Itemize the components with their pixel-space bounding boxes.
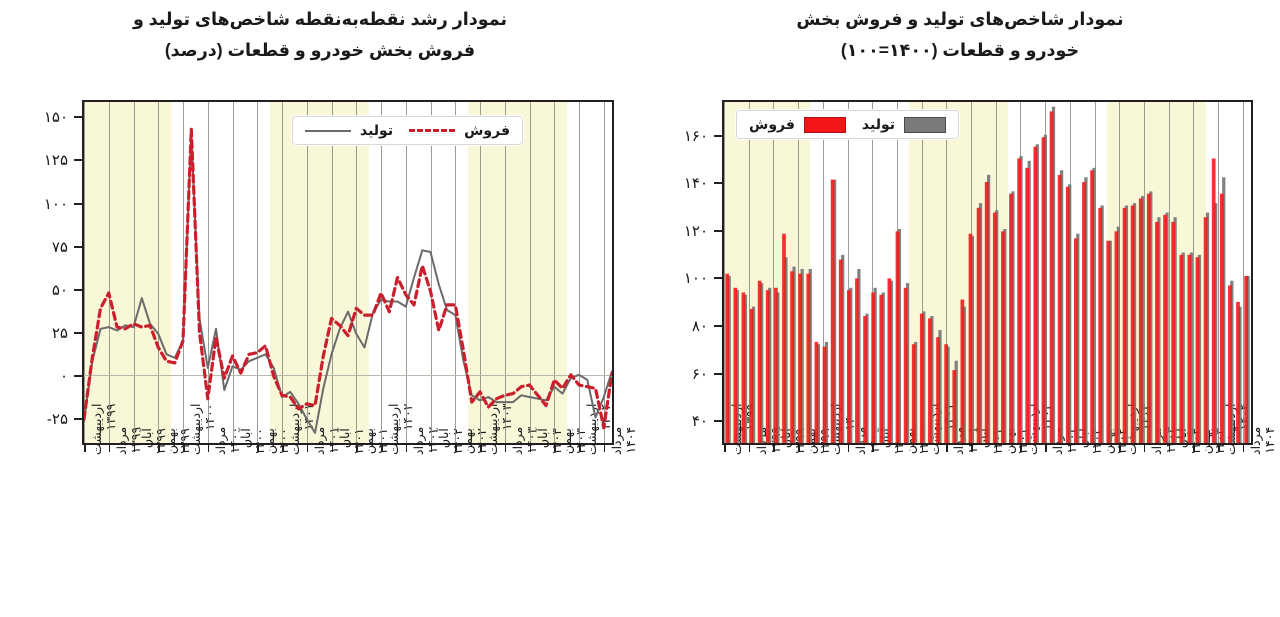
bar-sales bbox=[993, 213, 997, 443]
x-tick-mark bbox=[381, 445, 383, 452]
x-tick-mark bbox=[971, 445, 973, 452]
x-tick-mark bbox=[505, 445, 507, 452]
bar-sales bbox=[1074, 238, 1078, 443]
y-tick-label: ۱۲۵ bbox=[44, 151, 68, 169]
y-tick-mark bbox=[714, 420, 722, 422]
bar-sales bbox=[879, 295, 883, 443]
bar-sales bbox=[1090, 170, 1094, 443]
bar-sales bbox=[1042, 137, 1046, 443]
bar-sales bbox=[969, 234, 973, 443]
left-legend-item-production: تولید bbox=[305, 122, 393, 139]
x-tick-mark bbox=[946, 445, 948, 452]
panel-growth-line-chart: نمودار رشد نقطه‌به‌نقطه شاخص‌های تولید و… bbox=[0, 0, 640, 617]
x-tick-mark bbox=[848, 445, 850, 452]
bar-sales bbox=[798, 274, 802, 443]
x-tick-mark bbox=[798, 445, 800, 452]
bar-sales bbox=[1066, 187, 1070, 443]
y-tick-mark bbox=[74, 289, 82, 291]
y-tick-mark bbox=[74, 159, 82, 161]
x-tick-mark bbox=[1243, 445, 1245, 452]
dashed-line-icon bbox=[409, 129, 455, 132]
line-series-sales bbox=[84, 129, 612, 427]
bar-sales bbox=[1139, 198, 1143, 443]
y-tick-label: ۱۶۰ bbox=[684, 127, 708, 145]
y-tick-mark bbox=[714, 277, 722, 279]
x-tick-mark bbox=[872, 445, 874, 452]
x-tick-mark bbox=[84, 445, 86, 452]
bar-sales bbox=[985, 182, 989, 443]
bar-sales bbox=[1228, 285, 1232, 443]
right-legend-item-sales: فروش bbox=[749, 116, 846, 133]
bar-sales bbox=[766, 290, 770, 443]
x-tick-mark bbox=[1119, 445, 1121, 452]
right-legend-item-production: تولید bbox=[862, 116, 946, 133]
bar-sales bbox=[863, 316, 867, 443]
y-tick-label: ۷۵ bbox=[52, 238, 68, 256]
x-tick-mark bbox=[1095, 445, 1097, 452]
x-tick-mark bbox=[406, 445, 408, 452]
x-tick-mark bbox=[208, 445, 210, 452]
bar-sales bbox=[831, 180, 835, 443]
x-tick-mark bbox=[554, 445, 556, 452]
x-tick-mark bbox=[109, 445, 111, 452]
bar-sales bbox=[782, 234, 786, 443]
bar-sales bbox=[725, 274, 729, 443]
bar-sales bbox=[936, 337, 940, 443]
y-tick-mark bbox=[714, 135, 722, 137]
bar-sales bbox=[1155, 222, 1159, 443]
solid-line-icon bbox=[305, 130, 351, 132]
x-tick-mark bbox=[773, 445, 775, 452]
right-legend-production-label: تولید bbox=[862, 116, 895, 133]
bar-sales bbox=[920, 314, 924, 443]
left-legend-item-sales: فروش bbox=[409, 122, 510, 139]
left-series-lines bbox=[84, 102, 612, 443]
y-tick-mark bbox=[74, 246, 82, 248]
x-tick-mark bbox=[134, 445, 136, 452]
bar-sales bbox=[1098, 208, 1102, 443]
x-tick-mark bbox=[749, 445, 751, 452]
y-tick-mark bbox=[714, 230, 722, 232]
y-tick-mark bbox=[74, 203, 82, 205]
bar-sales bbox=[733, 288, 737, 443]
x-tick-mark bbox=[604, 445, 606, 452]
bar-sales bbox=[871, 292, 875, 443]
bar-sales bbox=[1163, 215, 1167, 443]
left-title-line1: نمودار رشد نقطه‌به‌نقطه شاخص‌های تولید و bbox=[0, 4, 640, 35]
y-tick-label: ۶۰ bbox=[692, 365, 708, 383]
x-tick-mark bbox=[158, 445, 160, 452]
right-title-line1: نمودار شاخص‌های تولید و فروش بخش bbox=[640, 4, 1280, 35]
bar-sales bbox=[1196, 257, 1200, 443]
bar-sales bbox=[1236, 302, 1240, 443]
y-tick-mark bbox=[714, 373, 722, 375]
bar-sales bbox=[847, 290, 851, 443]
left-legend-sales-label: فروش bbox=[464, 122, 510, 139]
bar-sales bbox=[977, 208, 981, 443]
bar-sales bbox=[758, 281, 762, 443]
bar-sales bbox=[1082, 182, 1086, 443]
x-tick-mark bbox=[579, 445, 581, 452]
bar-sales bbox=[928, 318, 932, 443]
bar-sales bbox=[839, 260, 843, 443]
y-tick-label: ۰ bbox=[60, 367, 68, 385]
y-tick-mark bbox=[714, 182, 722, 184]
y-tick-label: -۲۵ bbox=[47, 410, 68, 428]
right-y-axis: ۴۰۶۰۸۰۱۰۰۱۲۰۱۴۰۱۶۰ bbox=[640, 100, 722, 445]
bar-sales bbox=[912, 344, 916, 443]
red-square-icon bbox=[804, 117, 846, 133]
y-tick-mark bbox=[74, 332, 82, 334]
x-tick-mark bbox=[724, 445, 726, 452]
y-tick-label: ۱۲۰ bbox=[684, 222, 708, 240]
x-tick-mark bbox=[922, 445, 924, 452]
x-tick-mark bbox=[1144, 445, 1146, 452]
right-chart-title: نمودار شاخص‌های تولید و فروش بخش خودرو و… bbox=[640, 4, 1280, 65]
x-tick-mark bbox=[1193, 445, 1195, 452]
bar-sales bbox=[904, 288, 908, 443]
x-tick-label: مرداد۱۴۰۴ bbox=[610, 427, 639, 455]
bar-sales bbox=[1050, 111, 1054, 443]
bar-sales bbox=[1188, 255, 1192, 443]
y-tick-label: ۱۴۰ bbox=[684, 174, 708, 192]
bar-sales bbox=[944, 344, 948, 443]
bar-sales bbox=[1244, 276, 1248, 443]
x-tick-mark bbox=[332, 445, 334, 452]
bar-sales bbox=[896, 231, 900, 443]
bar-sales bbox=[750, 309, 754, 443]
x-tick-mark bbox=[1070, 445, 1072, 452]
x-tick-mark bbox=[431, 445, 433, 452]
y-tick-mark bbox=[74, 116, 82, 118]
x-tick-mark bbox=[455, 445, 457, 452]
bar-sales bbox=[1001, 231, 1005, 443]
x-tick-mark bbox=[307, 445, 309, 452]
x-tick-mark bbox=[183, 445, 185, 452]
bar-sales bbox=[888, 278, 892, 443]
right-legend: تولید فروش bbox=[736, 110, 959, 139]
bar-sales bbox=[1058, 175, 1062, 443]
bar-sales bbox=[1009, 194, 1013, 443]
bar-sales bbox=[1106, 241, 1110, 443]
left-legend: فروش تولید bbox=[292, 116, 523, 145]
right-legend-sales-label: فروش bbox=[749, 116, 795, 133]
bar-sales bbox=[823, 347, 827, 443]
bar-sales bbox=[1033, 147, 1037, 443]
bar-sales bbox=[1025, 168, 1029, 443]
left-chart-title: نمودار رشد نقطه‌به‌نقطه شاخص‌های تولید و… bbox=[0, 4, 640, 65]
bar-sales bbox=[1123, 208, 1127, 443]
bar-sales bbox=[855, 278, 859, 443]
y-tick-label: ۲۵ bbox=[52, 324, 68, 342]
bar-sales bbox=[952, 370, 956, 443]
right-title-line2: خودرو و قطعات (۱۴۰۰=۱۰۰) bbox=[640, 35, 1280, 66]
x-tick-mark bbox=[257, 445, 259, 452]
x-tick-mark bbox=[823, 445, 825, 452]
left-y-axis: -۲۵۰۲۵۵۰۷۵۱۰۰۱۲۵۱۵۰ bbox=[0, 100, 82, 445]
y-tick-mark bbox=[74, 418, 82, 420]
y-tick-label: ۱۰۰ bbox=[44, 195, 68, 213]
bar-sales bbox=[1131, 205, 1135, 443]
y-tick-mark bbox=[74, 375, 82, 377]
left-plot-area: فروش تولید bbox=[82, 100, 614, 445]
bar-sales bbox=[1017, 158, 1021, 443]
x-tick-mark bbox=[480, 445, 482, 452]
bar-sales bbox=[960, 300, 964, 443]
bar-sales bbox=[790, 271, 794, 443]
x-tick-mark bbox=[1020, 445, 1022, 452]
y-tick-label: ۱۵۰ bbox=[44, 108, 68, 126]
bar-sales bbox=[806, 274, 810, 443]
bar-sales bbox=[1204, 217, 1208, 443]
y-tick-label: ۵۰ bbox=[52, 281, 68, 299]
y-tick-label: ۱۰۰ bbox=[684, 269, 708, 287]
bar-sales bbox=[774, 288, 778, 443]
right-series-bars bbox=[724, 102, 1251, 443]
bar-sales bbox=[815, 342, 819, 443]
bar-sales bbox=[1171, 222, 1175, 443]
x-tick-mark bbox=[1045, 445, 1047, 452]
left-legend-production-label: تولید bbox=[360, 122, 393, 139]
x-tick-mark bbox=[233, 445, 235, 452]
bar-sales bbox=[1179, 255, 1183, 443]
panel-index-bar-chart: نمودار شاخص‌های تولید و فروش بخش خودرو و… bbox=[640, 0, 1280, 617]
bar-sales bbox=[1147, 194, 1151, 443]
chart-page: نمودار رشد نقطه‌به‌نقطه شاخص‌های تولید و… bbox=[0, 0, 1280, 617]
bar-sales bbox=[1115, 231, 1119, 443]
x-tick-mark bbox=[282, 445, 284, 452]
x-tick-mark bbox=[897, 445, 899, 452]
y-tick-label: ۴۰ bbox=[692, 412, 708, 430]
x-tick-mark bbox=[530, 445, 532, 452]
gray-square-icon bbox=[904, 117, 946, 133]
left-title-line2: فروش بخش خودرو و قطعات (درصد) bbox=[0, 35, 640, 66]
right-plot-area: تولید فروش bbox=[722, 100, 1253, 445]
y-tick-label: ۸۰ bbox=[692, 317, 708, 335]
x-tick-mark bbox=[1169, 445, 1171, 452]
x-tick-label: مرداد۱۴۰۴ bbox=[1249, 427, 1278, 455]
y-tick-mark bbox=[714, 325, 722, 327]
x-tick-mark bbox=[356, 445, 358, 452]
bar-sales bbox=[1220, 194, 1224, 443]
x-tick-mark bbox=[996, 445, 998, 452]
bar-sales bbox=[742, 292, 746, 443]
x-tick-mark bbox=[1218, 445, 1220, 452]
bar-sales bbox=[1212, 158, 1216, 443]
